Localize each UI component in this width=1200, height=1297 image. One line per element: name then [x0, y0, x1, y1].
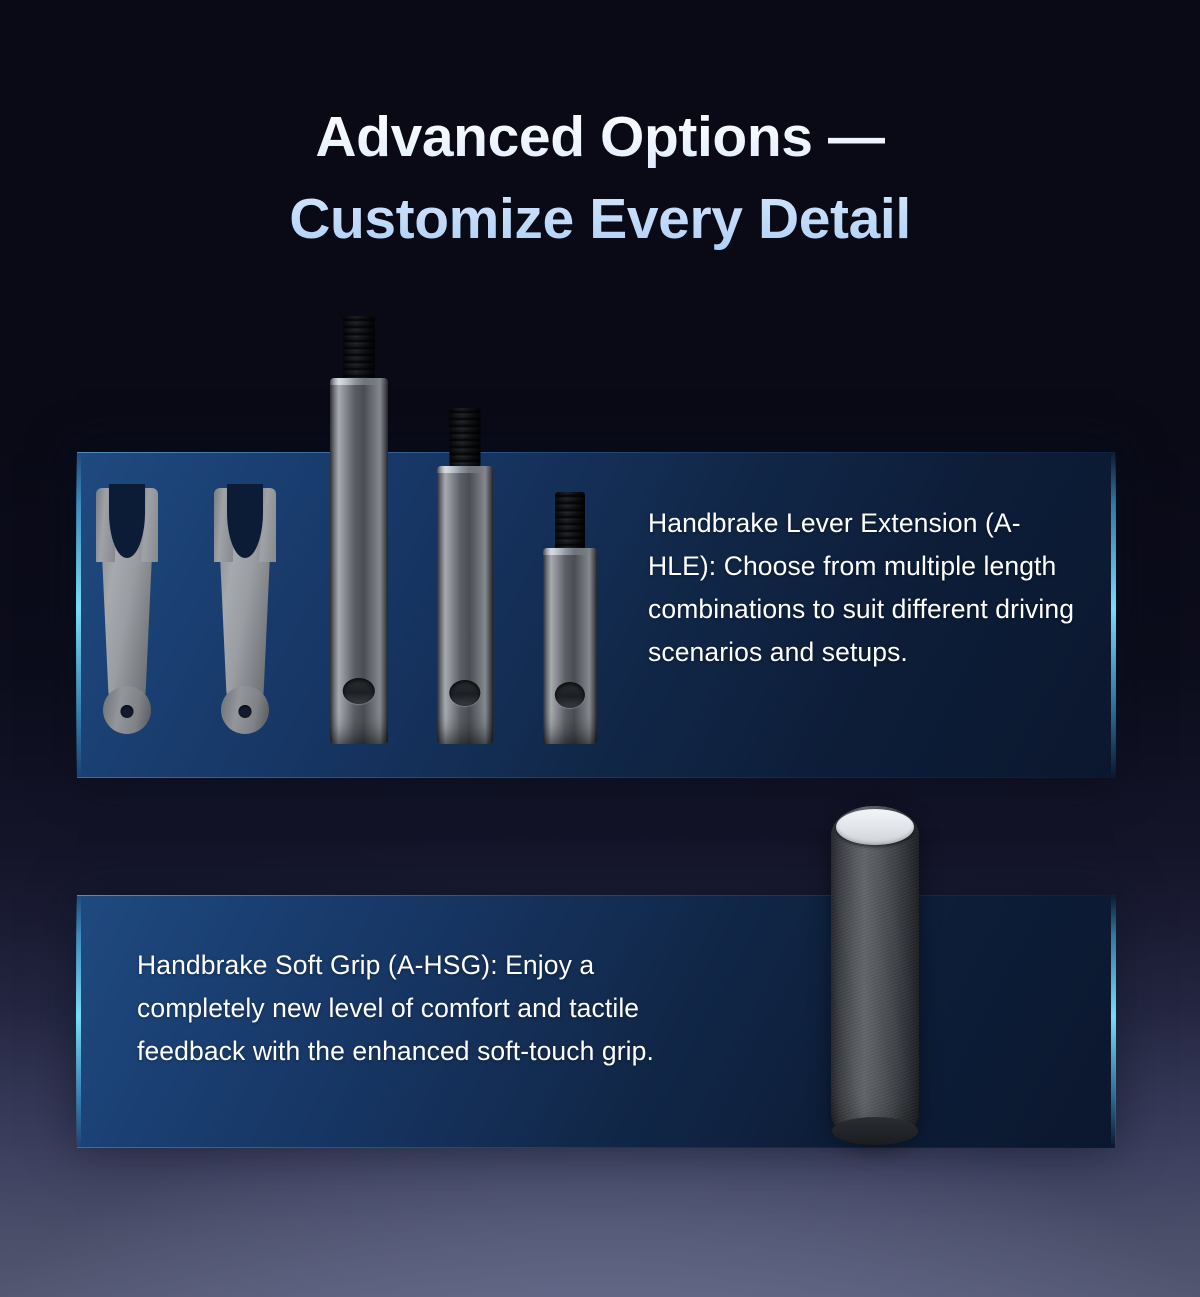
- panel-top-highlight: [77, 452, 1115, 453]
- panel-bottom-highlight: [77, 777, 1115, 778]
- panel-left-edge-glow: [76, 895, 81, 1148]
- rod-threaded-stud: [343, 316, 375, 378]
- panel-bottom-highlight: [77, 1147, 1115, 1148]
- page-title-line-1: Advanced Options —: [0, 96, 1200, 178]
- page-background: Advanced Options — Customize Every Detai…: [0, 0, 1200, 1297]
- page-title-line-2: Customize Every Detail: [0, 178, 1200, 260]
- panel-left-edge-glow: [76, 452, 81, 778]
- page-title: Advanced Options — Customize Every Detai…: [0, 96, 1200, 260]
- panel-top-highlight: [77, 895, 1115, 896]
- grip-top-opening: [836, 809, 914, 845]
- grip-top-lip: [830, 804, 920, 850]
- panel-right-edge-glow: [1111, 452, 1116, 778]
- panel-hsg-description: Handbrake Soft Grip (A-HSG): Enjoy a com…: [137, 944, 697, 1073]
- panel-right-edge-glow: [1111, 895, 1116, 1148]
- panel-hle-description: Handbrake Lever Extension (A-HLE): Choos…: [648, 502, 1078, 674]
